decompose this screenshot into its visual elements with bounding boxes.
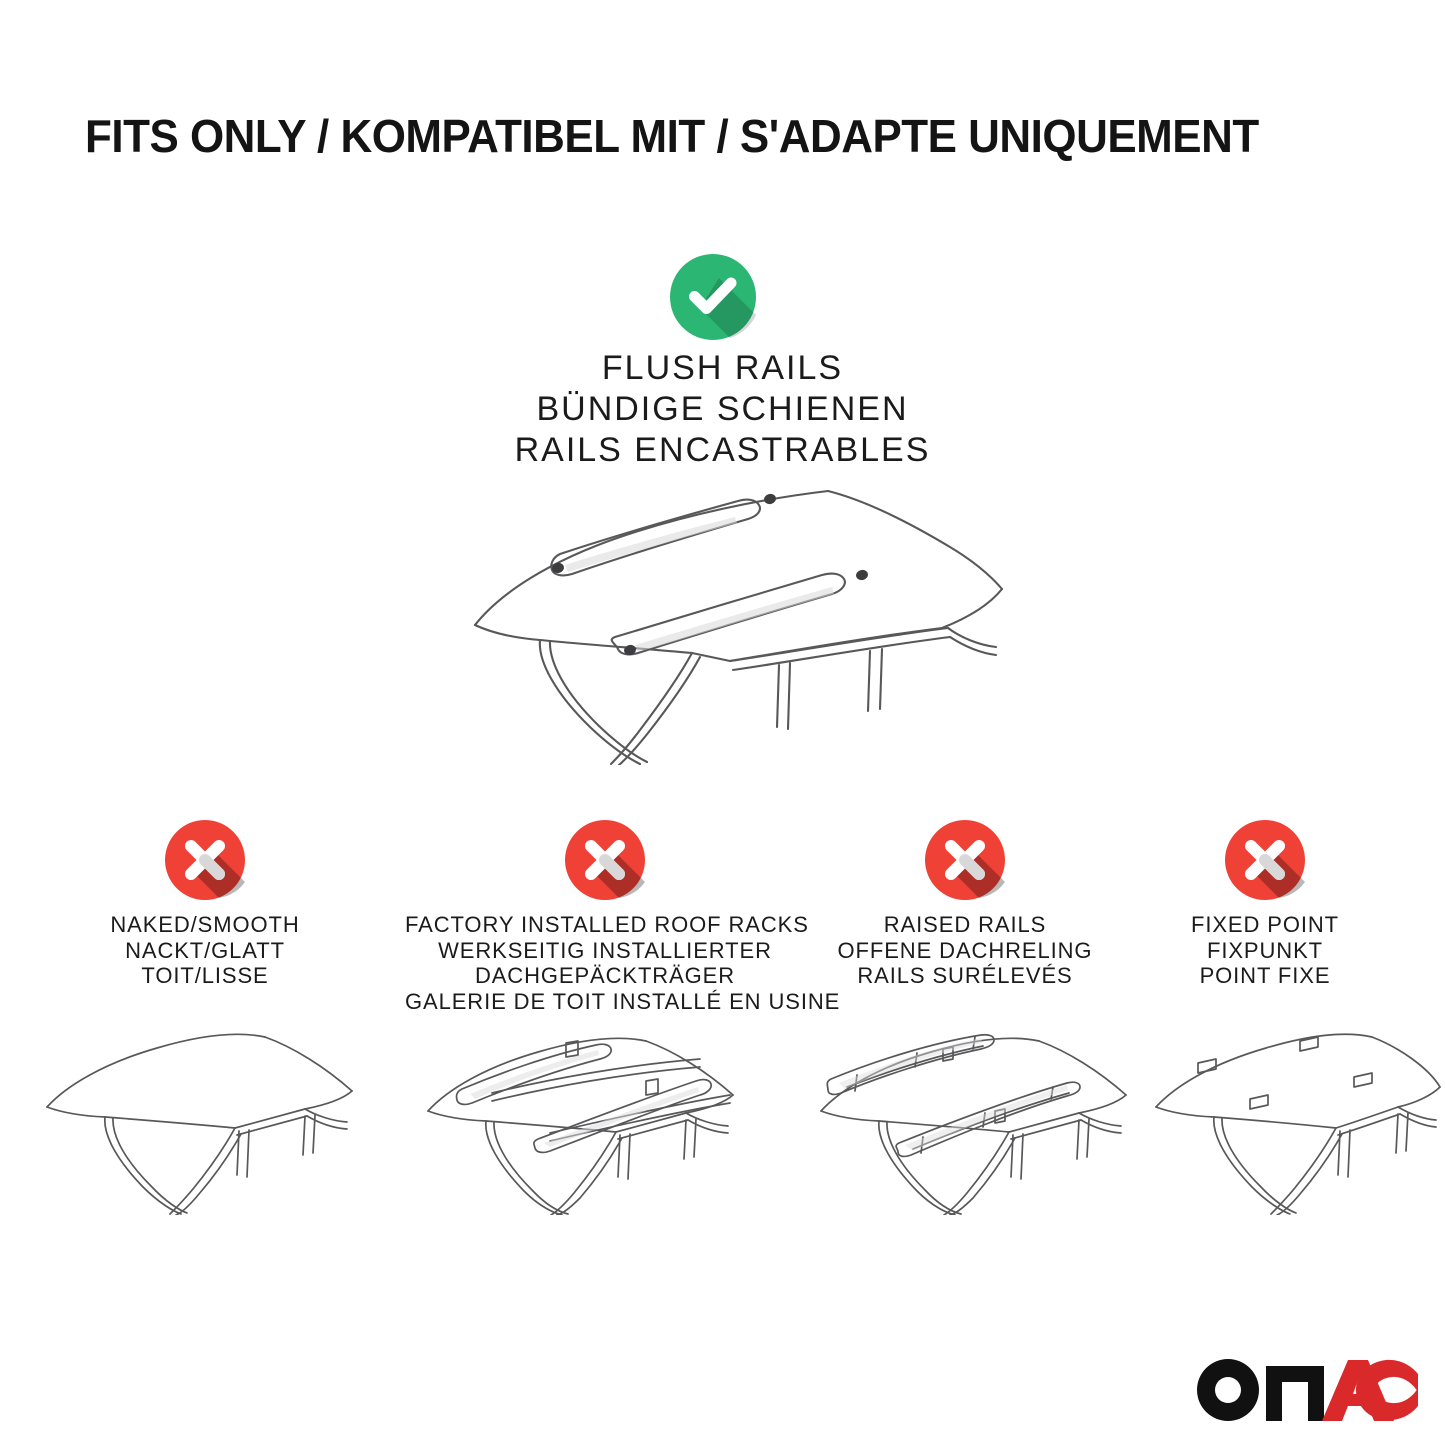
- incompatible-labels: FACTORY INSTALLED ROOF RACKS WERKSEITIG …: [405, 912, 805, 1014]
- green-check-icon: [670, 254, 756, 340]
- logo-letter-m: [1266, 1366, 1324, 1421]
- red-x-icon: [165, 820, 245, 900]
- incompatible-labels: FIXED POINT FIXPUNKT POINT FIXE: [1145, 912, 1385, 989]
- incompatible-item-raised-rails: RAISED RAILS OFFENE DACHRELING RAILS SUR…: [825, 820, 1105, 989]
- label-line: TOIT/LISSE: [45, 963, 365, 989]
- infographic-canvas: FITS ONLY / KOMPATIBEL MIT / S'ADAPTE UN…: [0, 0, 1445, 1445]
- incompatible-item-naked-smooth: NAKED/SMOOTH NACKT/GLATT TOIT/LISSE: [45, 820, 365, 989]
- label-line: NAKED/SMOOTH: [45, 912, 365, 938]
- label-line: RAILS SURÉLEVÉS: [825, 963, 1105, 989]
- label-line: NACKT/GLATT: [45, 938, 365, 964]
- compatible-labels: FLUSH RAILS BÜNDIGE SCHIENEN RAILS ENCAS…: [0, 348, 1445, 471]
- label-line: POINT FIXE: [1145, 963, 1385, 989]
- car-roof-raised-rails-illustration: [795, 1015, 1150, 1215]
- label-line: GALERIE DE TOIT INSTALLÉ EN USINE: [405, 989, 805, 1015]
- incompatible-labels: RAISED RAILS OFFENE DACHRELING RAILS SUR…: [825, 912, 1105, 989]
- page-title: FITS ONLY / KOMPATIBEL MIT / S'ADAPTE UN…: [85, 108, 1317, 164]
- red-x-icon: [925, 820, 1005, 900]
- omac-logo: [1196, 1358, 1418, 1422]
- compatible-label-en: FLUSH RAILS: [0, 348, 1445, 389]
- logo-letter-o: [1197, 1359, 1259, 1421]
- incompatible-labels: NAKED/SMOOTH NACKT/GLATT TOIT/LISSE: [45, 912, 365, 989]
- label-line: WERKSEITIG INSTALLIERTER: [405, 938, 805, 964]
- red-x-icon: [565, 820, 645, 900]
- car-roof-with-flush-rails-illustration: [430, 465, 1030, 765]
- label-line: OFFENE DACHRELING: [825, 938, 1105, 964]
- label-line: FIXED POINT: [1145, 912, 1385, 938]
- red-x-icon: [1225, 820, 1305, 900]
- label-line: RAISED RAILS: [825, 912, 1105, 938]
- incompatible-item-fixed-point: FIXED POINT FIXPUNKT POINT FIXE: [1145, 820, 1385, 989]
- label-line: FIXPUNKT: [1145, 938, 1385, 964]
- incompatible-item-factory-roof-racks: FACTORY INSTALLED ROOF RACKS WERKSEITIG …: [405, 820, 805, 1014]
- car-roof-factory-roof-racks-illustration: [400, 1015, 755, 1215]
- label-line: DACHGEPÄCKTRÄGER: [405, 963, 805, 989]
- label-line: FACTORY INSTALLED ROOF RACKS: [405, 912, 805, 938]
- car-roof-fixed-point-illustration: [1140, 1015, 1445, 1215]
- illustration-row: [0, 1015, 1445, 1225]
- car-roof-naked-smooth-illustration: [25, 1015, 370, 1215]
- compatible-label-de: BÜNDIGE SCHIENEN: [0, 389, 1445, 430]
